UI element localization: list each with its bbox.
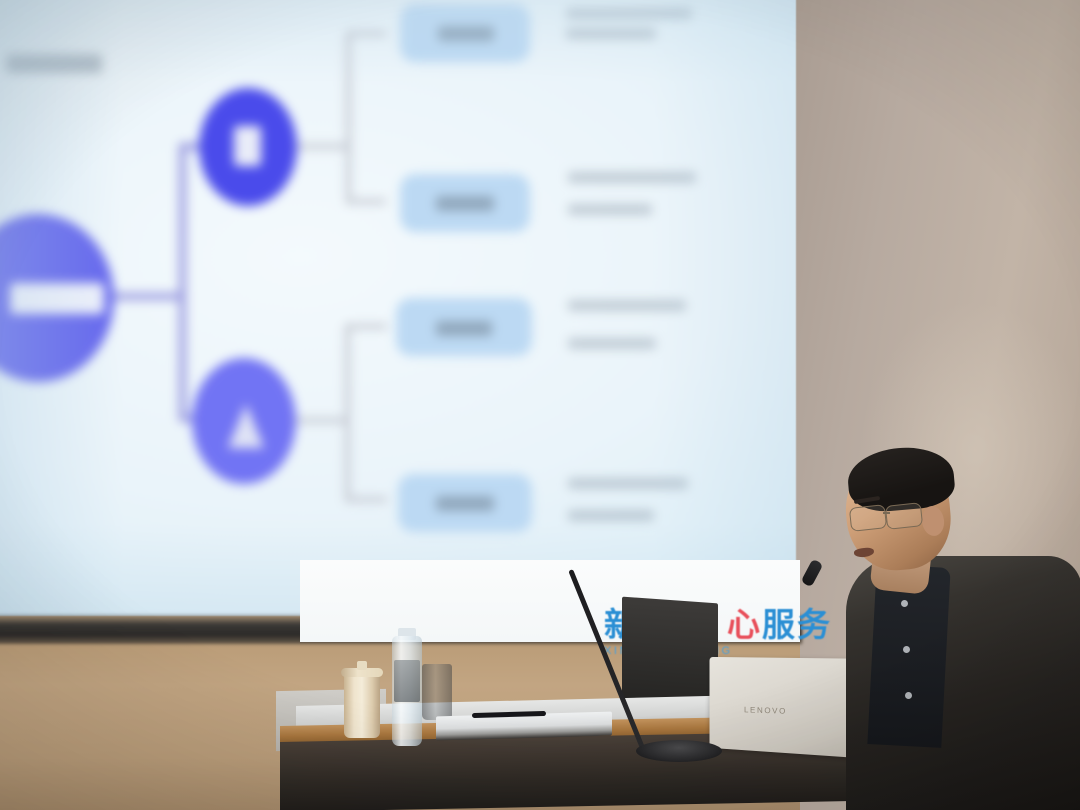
eyeglasses-left-lens <box>849 504 887 532</box>
speaker-shirt-button-2 <box>903 646 910 653</box>
brand-logo-heart-char: 心 <box>727 605 762 644</box>
presentation-photo-scene: 新张江心服务 XIN ZHANGJIANG LENOVO <box>0 0 1080 810</box>
projection-screen <box>0 0 796 616</box>
leaf-box-4-pill-text <box>436 496 494 511</box>
leaf-box-4-body-line-1 <box>568 478 688 489</box>
projected-slide <box>0 0 796 616</box>
connector-b2-leaf-3 <box>345 324 387 329</box>
leaf-box-3-pill-text <box>436 321 492 336</box>
connector-b2-out <box>294 418 348 423</box>
eyeglasses-right-lens <box>885 502 923 530</box>
laptop-brand-logo: LENOVO <box>744 705 787 716</box>
speaker-shirt-button-1 <box>901 600 908 607</box>
brand-logo-part2: 服务 <box>762 605 832 644</box>
leaf-box-2-body-line-1 <box>568 172 696 183</box>
leaf-box-2-pill-text <box>436 196 494 211</box>
microphone-base <box>636 740 722 762</box>
connector-b1-out <box>295 144 349 149</box>
connector-b2-leaf-4 <box>345 497 387 502</box>
connector-vertical-spine <box>179 146 186 300</box>
connector-b1-leaf-1 <box>346 31 386 36</box>
speaker-shirt-button-3 <box>905 692 912 699</box>
leaf-box-3-body-line-1 <box>568 300 686 311</box>
mindmap-root-label <box>10 283 104 314</box>
slide-title-text <box>6 54 102 73</box>
leaf-box-1-body-line-2 <box>566 28 656 39</box>
eyeglasses-bridge <box>883 512 890 514</box>
connector-vertical-spine-lower <box>179 293 186 421</box>
leaf-box-4-body-line-2 <box>568 510 654 521</box>
connector-b2-bus <box>345 326 350 502</box>
drinking-glass <box>422 664 452 720</box>
connector-root-trunk <box>112 293 186 300</box>
water-bottle-label <box>394 660 420 702</box>
connector-b1-leaf-2 <box>346 199 386 204</box>
person-icon <box>228 404 264 448</box>
leaf-box-1-body-line-1 <box>566 8 692 19</box>
leaf-box-3-body-line-2 <box>568 338 656 349</box>
leaf-box-1-pill-text <box>438 26 494 41</box>
thermos-tumbler-left-knob <box>357 661 367 670</box>
thermos-tumbler-left <box>344 672 380 738</box>
connector-b1-bus <box>346 34 351 204</box>
leaf-box-2-body-line-2 <box>568 204 652 215</box>
document-icon <box>234 126 261 166</box>
